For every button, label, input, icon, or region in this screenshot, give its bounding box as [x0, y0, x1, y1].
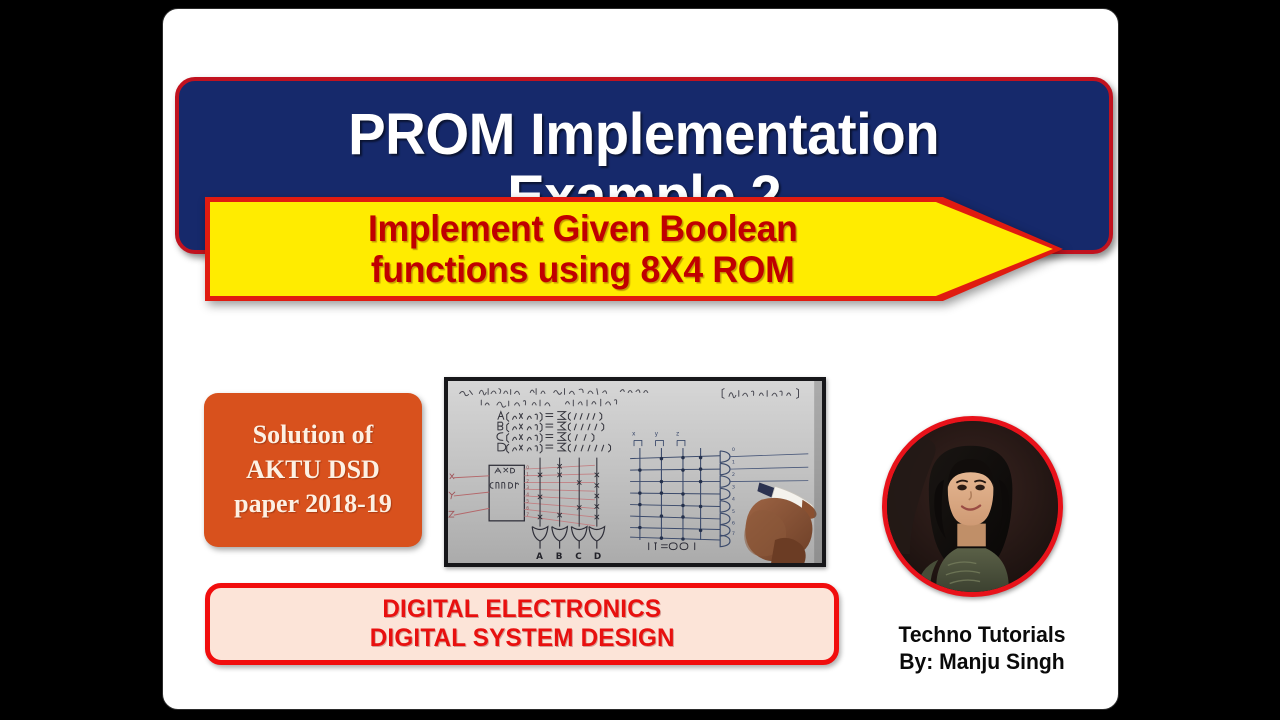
course-line-2: DIGITAL SYSTEM DESIGN — [369, 624, 674, 654]
svg-text:1: 1 — [526, 472, 529, 478]
whiteboard-photo: 01 23 45 67 — [444, 377, 826, 567]
svg-text:D: D — [594, 552, 601, 562]
svg-text:5: 5 — [526, 499, 529, 505]
svg-text:6: 6 — [732, 521, 735, 527]
svg-text:y: y — [655, 432, 659, 438]
arrow-text-group: Implement Given Boolean functions using … — [205, 197, 960, 301]
course-line-1: DIGITAL ELECTRONICS — [383, 595, 662, 625]
svg-text:3: 3 — [732, 484, 735, 490]
presenter-avatar — [882, 416, 1063, 597]
svg-text:7: 7 — [732, 531, 735, 537]
title-line-1: PROM Implementation — [349, 104, 940, 165]
whiteboard-illustration: 01 23 45 67 — [448, 381, 822, 563]
channel-credit: Techno Tutorials By: Manju Singh — [853, 621, 1111, 676]
solution-line-2: AKTU DSD — [246, 453, 380, 488]
svg-text:5: 5 — [732, 509, 735, 515]
arrow-line-1: Implement Given Boolean — [368, 208, 798, 249]
presenter-name: By: Manju Singh — [858, 648, 1106, 675]
channel-name: Techno Tutorials — [858, 621, 1106, 648]
solution-line-3: paper 2018-19 — [234, 487, 392, 522]
solution-info-box: Solution of AKTU DSD paper 2018-19 — [204, 393, 422, 547]
svg-text:6: 6 — [526, 505, 529, 511]
svg-text:x: x — [632, 432, 636, 438]
svg-text:4: 4 — [526, 492, 529, 498]
svg-text:2: 2 — [732, 472, 735, 478]
svg-text:3: 3 — [526, 485, 529, 491]
svg-text:7: 7 — [526, 512, 529, 518]
presenter-portrait — [887, 421, 1058, 592]
svg-text:0: 0 — [732, 447, 735, 453]
svg-text:2: 2 — [526, 479, 529, 485]
solution-line-1: Solution of — [253, 418, 374, 453]
svg-text:0: 0 — [526, 465, 529, 471]
svg-text:C: C — [575, 552, 581, 562]
arrow-line-2: functions using 8X4 ROM — [371, 249, 795, 290]
task-arrow-banner: Implement Given Boolean functions using … — [205, 197, 1063, 301]
svg-text:z: z — [676, 432, 679, 438]
svg-text:4: 4 — [732, 497, 735, 503]
svg-text:B: B — [556, 552, 563, 562]
svg-text:1: 1 — [732, 459, 735, 465]
slide-canvas: PROM Implementation Example 2 Implement … — [0, 0, 1280, 720]
svg-text:A: A — [536, 552, 543, 562]
presentation-slide: PROM Implementation Example 2 Implement … — [162, 8, 1119, 710]
course-title-box: DIGITAL ELECTRONICS DIGITAL SYSTEM DESIG… — [205, 583, 839, 665]
